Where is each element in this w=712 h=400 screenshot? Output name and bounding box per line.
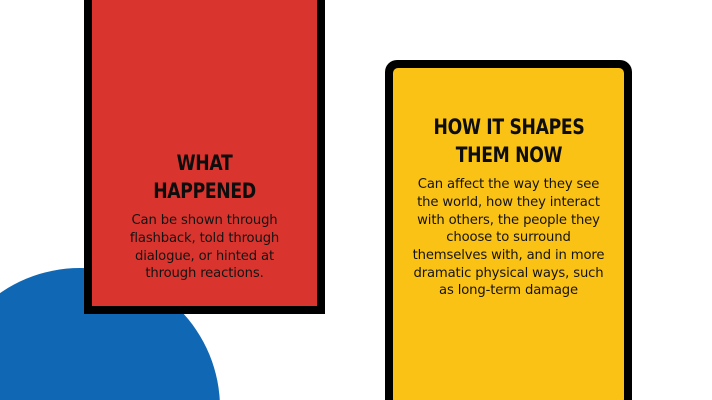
card-how-it-shapes-them-now-surface: HOW IT SHAPES THEM NOW Can affect the wa…: [393, 68, 624, 400]
card-how-it-shapes-them-now-body: Can affect the way they see the world, h…: [408, 176, 609, 300]
card-what-happened-surface: WHAT HAPPENED Can be shown through flash…: [92, 0, 317, 306]
card-what-happened-body: Can be shown through flashback, told thr…: [109, 212, 300, 283]
card-what-happened-heading: WHAT HAPPENED: [124, 150, 286, 205]
card-what-happened[interactable]: WHAT HAPPENED Can be shown through flash…: [84, 0, 325, 314]
card-how-it-shapes-them-now-heading: HOW IT SHAPES THEM NOW: [433, 114, 584, 169]
slide-canvas: WHAT HAPPENED Can be shown through flash…: [0, 0, 712, 400]
card-how-it-shapes-them-now[interactable]: HOW IT SHAPES THEM NOW Can affect the wa…: [385, 60, 632, 400]
